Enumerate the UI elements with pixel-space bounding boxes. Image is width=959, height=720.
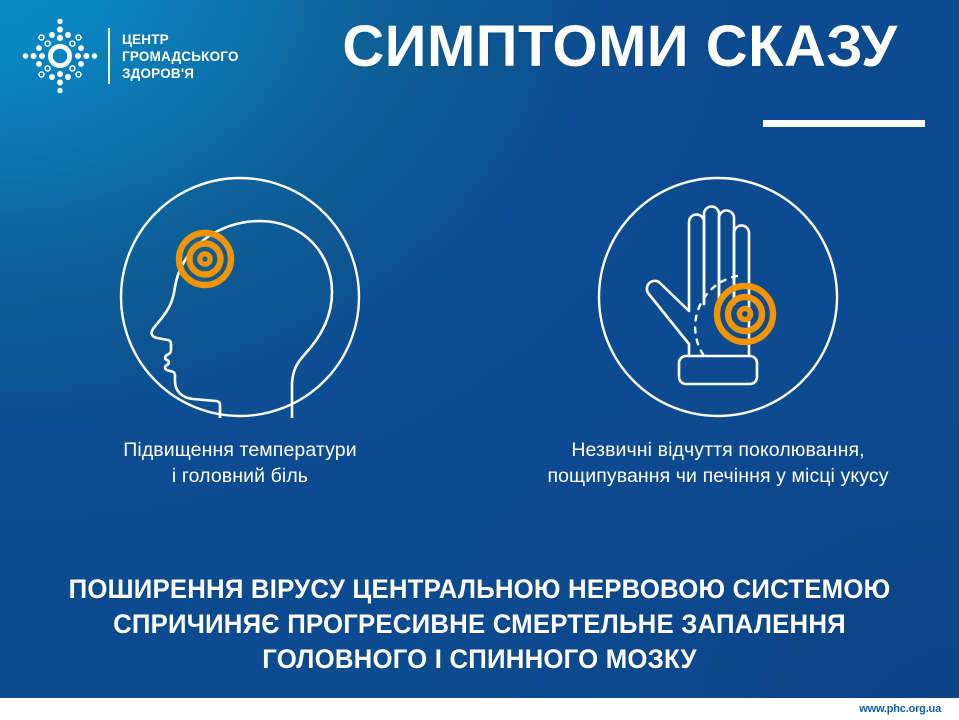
head-profile-pain-icon (119, 176, 361, 418)
symptom-card-tingling-bite: Незвичні відчуття поколювання, пощипуван… (597, 176, 839, 489)
logo-block: ЦЕНТР ГРОМАДСЬКОГО ЗДОРОВ'Я (18, 14, 239, 98)
page-title: СИМПТОМИ СКАЗУ (300, 17, 940, 78)
logo-text: ЦЕНТР ГРОМАДСЬКОГО ЗДОРОВ'Я (122, 31, 239, 82)
symptom-caption: Незвичні відчуття поколювання, пощипуван… (483, 438, 953, 489)
footer-bar: www.phc.org.ua (0, 698, 959, 720)
symptom-card-fever-headache: Підвищення температури і головний біль (119, 176, 361, 489)
symptom-caption: Підвищення температури і головний біль (30, 438, 450, 489)
phc-logo-icon (18, 14, 102, 98)
title-underline-rule (763, 120, 925, 127)
footer-website-link[interactable]: www.phc.org.ua (859, 703, 941, 715)
hand-tingling-icon (597, 176, 839, 418)
rabies-symptoms-poster: ЦЕНТР ГРОМАДСЬКОГО ЗДОРОВ'Я СИМПТОМИ СКА… (0, 0, 959, 720)
statement-text: ПОШИРЕННЯ ВІРУСУ ЦЕНТРАЛЬНОЮ НЕРВОВОЮ СИ… (22, 572, 938, 677)
logo-divider (108, 28, 110, 84)
